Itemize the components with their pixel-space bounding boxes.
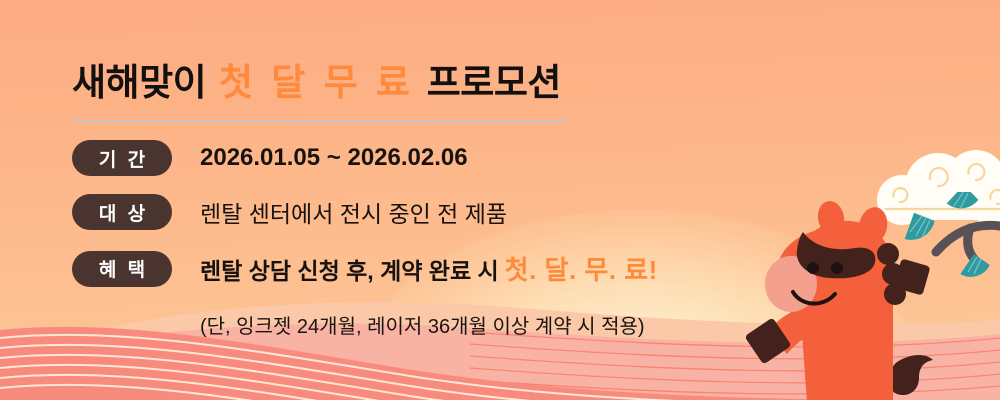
promotion-banner: 새해맞이 첫 달 무 료 프로모션 기 간 2026.01.05 ~ 2026.… bbox=[0, 0, 1000, 400]
title-divider bbox=[73, 120, 570, 122]
benefit-value: 렌탈 상담 신청 후, 계약 완료 시첫. 달. 무. 료! bbox=[200, 250, 658, 287]
benefit-text: 렌탈 상담 신청 후, 계약 완료 시 bbox=[200, 258, 499, 284]
title-tail: 프로모션 bbox=[427, 62, 561, 103]
target-value: 렌탈 센터에서 전시 중인 전 제품 bbox=[200, 195, 507, 229]
title-lead: 새해맞이 bbox=[72, 62, 206, 103]
detail-row-target: 대 상 렌탈 센터에서 전시 중인 전 제품 bbox=[72, 194, 507, 230]
detail-row-period: 기 간 2026.01.05 ~ 2026.02.06 bbox=[72, 140, 468, 176]
detail-row-benefit: 혜 택 렌탈 상담 신청 후, 계약 완료 시첫. 달. 무. 료! bbox=[72, 250, 658, 287]
label-pill-benefit: 혜 택 bbox=[72, 251, 172, 287]
terms-note: (단, 잉크젯 24개월, 레이저 36개월 이상 계약 시 적용) bbox=[200, 310, 645, 339]
page-title: 새해맞이 첫 달 무 료 프로모션 bbox=[72, 52, 561, 106]
benefit-highlight: 첫. 달. 무. 료! bbox=[505, 255, 658, 285]
period-value: 2026.01.05 ~ 2026.02.06 bbox=[200, 144, 468, 172]
label-pill-target: 대 상 bbox=[72, 194, 172, 230]
label-pill-period: 기 간 bbox=[72, 140, 172, 176]
title-accent: 첫 달 무 료 bbox=[216, 62, 417, 103]
